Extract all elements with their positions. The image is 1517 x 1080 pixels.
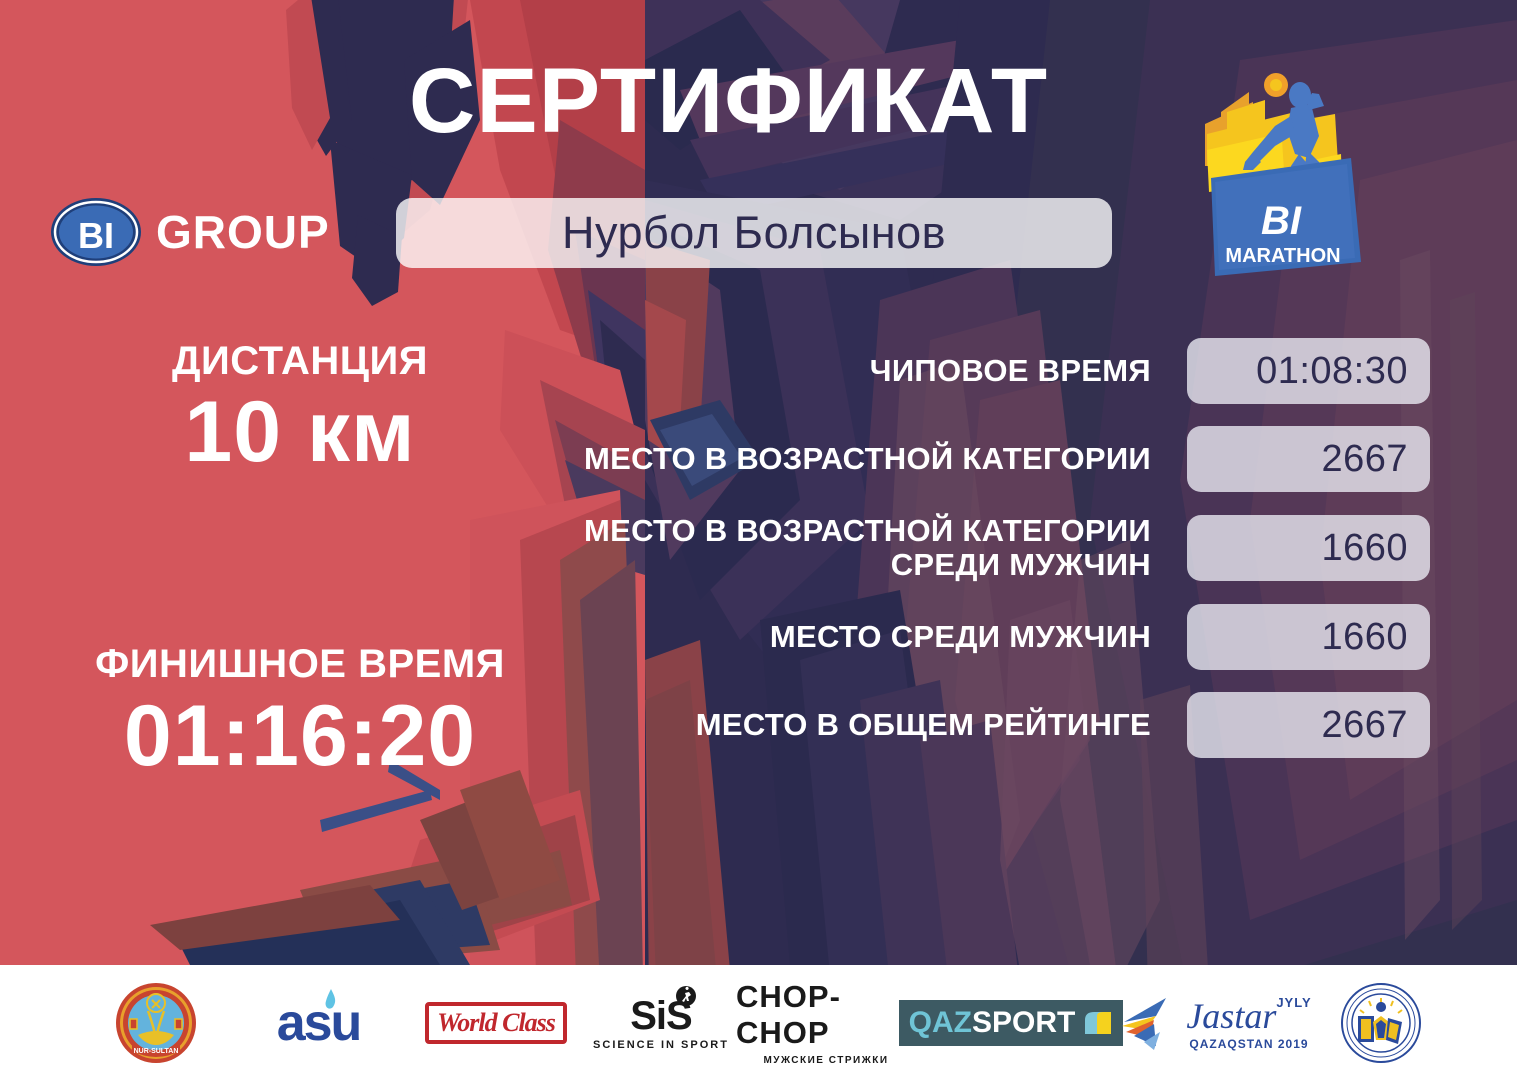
chip-time-label: ЧИПОВОЕ ВРЕМЯ [540, 354, 1187, 388]
finish-time-value: 01:16:20 [60, 691, 540, 781]
bi-group-wordmark: GROUP [156, 205, 330, 259]
sponsor-sis: SiS SCIENCE IN SPORT [586, 978, 736, 1068]
bi-group-mark: BI [48, 196, 144, 268]
right-stats-column: ЧИПОВОЕ ВРЕМЯ 01:08:30 МЕСТО В ВОЗРАСТНО… [540, 338, 1430, 780]
stat-row: ЧИПОВОЕ ВРЕМЯ 01:08:30 [540, 338, 1430, 404]
men-place-label: МЕСТО СРЕДИ МУЖЧИН [540, 620, 1187, 654]
overall-place-label: МЕСТО В ОБЩЕМ РЕЙТИНГЕ [540, 708, 1187, 742]
qazsport-wordmark-sport: SPORT [972, 1006, 1075, 1040]
jastar-jyly-superscript: JYLY [1276, 995, 1311, 1010]
bi-group-logo: BI GROUP [48, 196, 330, 268]
sis-tagline: SCIENCE IN SPORT [593, 1039, 729, 1051]
marathon-logo-line1: BI [1261, 199, 1302, 243]
age-category-men-place-label: МЕСТО В ВОЗРАСТНОЙ КАТЕГОРИИ СРЕДИ МУЖЧИ… [540, 514, 1187, 582]
men-place-value: 1660 [1187, 604, 1430, 670]
sponsor-asu: asu [231, 978, 406, 1068]
world-class-wordmark: World Class [425, 1002, 567, 1044]
qazsport-wordmark-qaz: QAZ [909, 1006, 972, 1040]
chop-chop-wordmark: CHOP-CHOP [736, 979, 916, 1051]
age-category-place-label: МЕСТО В ВОЗРАСТНОЙ КАТЕГОРИИ [540, 442, 1187, 476]
chop-chop-tagline: МУЖСКИЕ СТРИЖКИ [763, 1055, 888, 1066]
age-category-men-place-value: 1660 [1187, 515, 1430, 581]
stat-row: МЕСТО В ВОЗРАСТНОЙ КАТЕГОРИИ СРЕДИ МУЖЧИ… [540, 514, 1430, 582]
distance-value: 10 км [60, 387, 540, 477]
participant-name-field: Нурбол Болсынов [396, 198, 1112, 268]
ministry-seal-icon [1340, 982, 1422, 1064]
stat-row: МЕСТО В ВОЗРАСТНОЙ КАТЕГОРИИ 2667 [540, 426, 1430, 492]
sis-runner-icon [676, 986, 696, 1006]
sponsor-nur-sultan: NUR-SULTAN [81, 978, 231, 1068]
bi-marathon-logo: BI MARATHON [1183, 62, 1383, 302]
jastar-wordmark: Jastar [1186, 995, 1276, 1037]
sponsor-qazsport: QAZ SPORT [916, 978, 1106, 1068]
chip-time-value: 01:08:30 [1187, 338, 1430, 404]
sponsor-jastar-jyly: Jastar JYLY QAZAQSTAN 2019 [1106, 978, 1326, 1068]
sponsor-ministry-seal [1326, 978, 1436, 1068]
jastar-subtitle: QAZAQSTAN 2019 [1189, 1037, 1308, 1051]
svg-text:BI: BI [78, 215, 114, 256]
distance-label: ДИСТАНЦИЯ [60, 340, 540, 383]
asu-droplet-icon [323, 989, 339, 1011]
left-stats-column: ДИСТАНЦИЯ 10 км ФИНИШНОЕ ВРЕМЯ 01:16:20 [60, 340, 540, 781]
finish-time-label: ФИНИШНОЕ ВРЕМЯ [60, 643, 540, 686]
stat-row: МЕСТО СРЕДИ МУЖЧИН 1660 [540, 604, 1430, 670]
jastar-bird-icon [1120, 992, 1182, 1054]
age-category-place-value: 2667 [1187, 426, 1430, 492]
nur-sultan-label: NUR-SULTAN [134, 1048, 179, 1055]
sponsor-strip: NUR-SULTAN asu World Class SiS [0, 965, 1517, 1080]
stat-row: МЕСТО В ОБЩЕМ РЕЙТИНГЕ 2667 [540, 692, 1430, 758]
marathon-logo-line2: MARATHON [1225, 245, 1340, 267]
certificate: СЕРТИФИКАТ BI GROUP Нурбол Болсынов [0, 0, 1517, 1080]
sponsor-chop-chop: CHOP-CHOP МУЖСКИЕ СТРИЖКИ [736, 978, 916, 1068]
sponsor-world-class: World Class [406, 978, 586, 1068]
overall-place-value: 2667 [1187, 692, 1430, 758]
asu-wordmark: asu [277, 994, 361, 1052]
participant-name: Нурбол Болсынов [562, 207, 946, 259]
nur-sultan-emblem-icon: NUR-SULTAN [114, 981, 198, 1065]
